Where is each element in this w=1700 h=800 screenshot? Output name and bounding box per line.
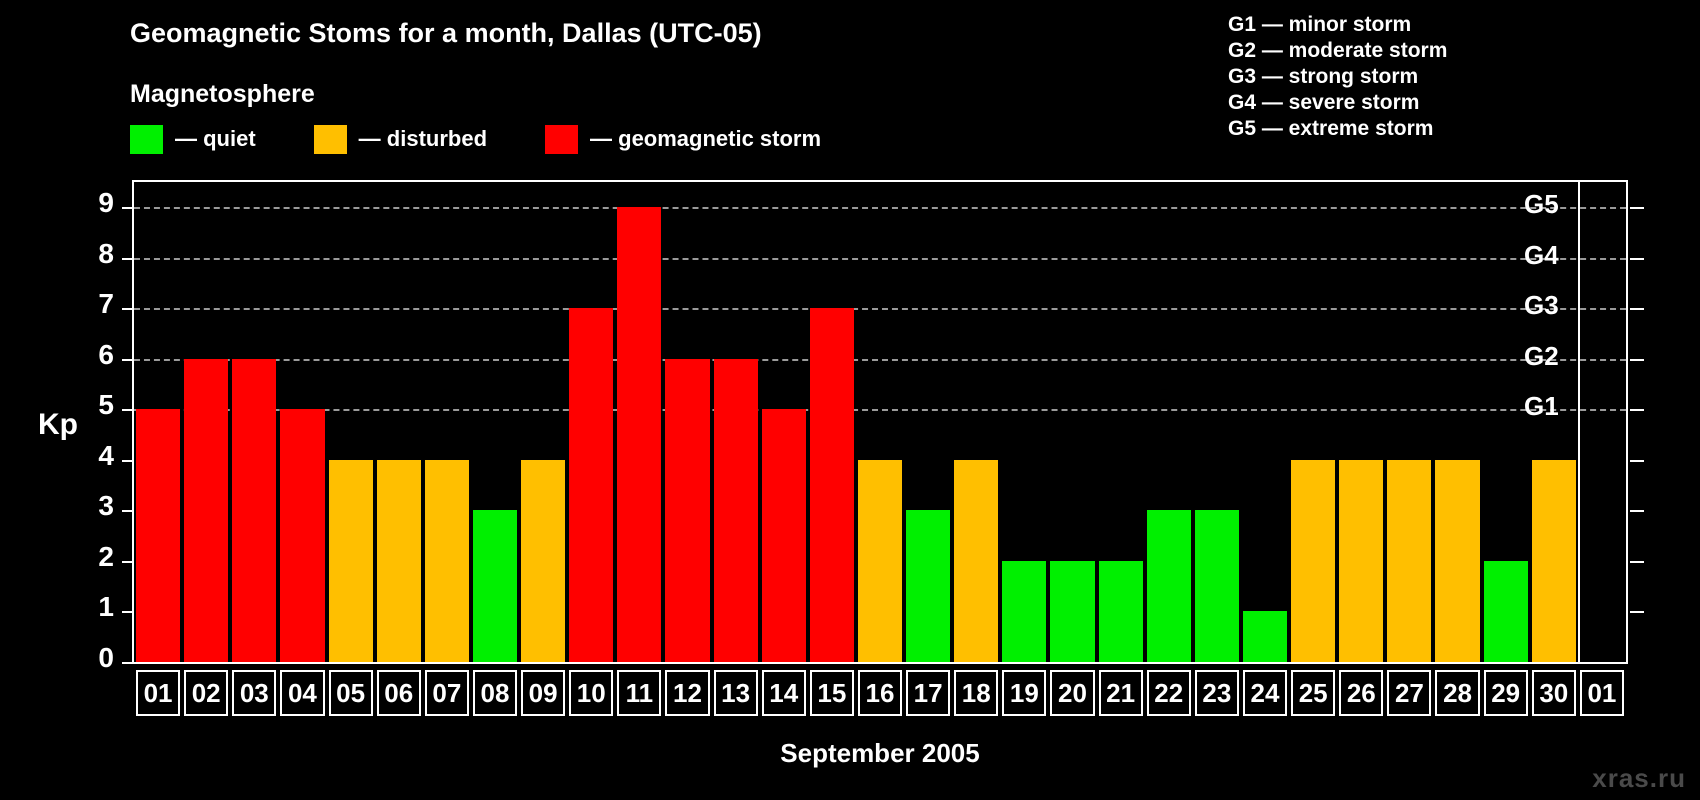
day-label-4[interactable]: 05: [329, 670, 373, 716]
bar-day-09[interactable]: [521, 460, 565, 662]
y-tick-4: [122, 460, 134, 462]
bar-day-11[interactable]: [617, 207, 661, 662]
day-label-3[interactable]: 04: [280, 670, 324, 716]
y-tick-label-0: 0: [74, 642, 114, 674]
g-minor-tick-1: [1630, 611, 1644, 613]
day-label-30[interactable]: 01: [1580, 670, 1624, 716]
y-tick-label-5: 5: [74, 389, 114, 421]
legend-label-quiet: — quiet: [175, 126, 256, 152]
day-label-11[interactable]: 12: [665, 670, 709, 716]
day-label-2[interactable]: 03: [232, 670, 276, 716]
day-label-9[interactable]: 10: [569, 670, 613, 716]
day-label-16[interactable]: 17: [906, 670, 950, 716]
plot-area: [132, 180, 1628, 664]
y-tick-0: [122, 662, 134, 664]
day-label-22[interactable]: 23: [1195, 670, 1239, 716]
y-tick-1: [122, 611, 134, 613]
y-tick-label-8: 8: [74, 238, 114, 270]
g-tick-G1: [1630, 409, 1644, 411]
day-label-12[interactable]: 13: [714, 670, 758, 716]
chart-title: Geomagnetic Stoms for a month, Dallas (U…: [130, 18, 762, 49]
day-label-6[interactable]: 07: [425, 670, 469, 716]
y-tick-2: [122, 561, 134, 563]
day-label-15[interactable]: 16: [858, 670, 902, 716]
chart-canvas: Geomagnetic Stoms for a month, Dallas (U…: [0, 0, 1700, 800]
bar-day-20[interactable]: [1050, 561, 1094, 662]
bar-day-23[interactable]: [1195, 510, 1239, 662]
bar-day-18[interactable]: [954, 460, 998, 662]
g-minor-tick-4: [1630, 460, 1644, 462]
y-tick-6: [122, 359, 134, 361]
y-tick-label-3: 3: [74, 490, 114, 522]
day-label-10[interactable]: 11: [617, 670, 661, 716]
g-axis-label-G1: G1: [1524, 391, 1559, 422]
x-axis-day-labels: 0102030405060708091011121314151617181920…: [132, 670, 1628, 716]
bar-day-04[interactable]: [280, 409, 324, 662]
day-label-25[interactable]: 26: [1339, 670, 1383, 716]
bar-day-24[interactable]: [1243, 611, 1287, 662]
bar-day-07[interactable]: [425, 460, 469, 662]
bar-day-29[interactable]: [1484, 561, 1528, 662]
g-tick-G4: [1630, 258, 1644, 260]
legend-swatch-quiet: [130, 125, 163, 154]
bar-day-21[interactable]: [1099, 561, 1143, 662]
legend-label-disturbed: — disturbed: [359, 126, 487, 152]
bar-day-06[interactable]: [377, 460, 421, 662]
y-tick-label-7: 7: [74, 288, 114, 320]
day-label-18[interactable]: 19: [1002, 670, 1046, 716]
day-label-24[interactable]: 25: [1291, 670, 1335, 716]
bar-day-01[interactable]: [136, 409, 180, 662]
legend-item-disturbed: — disturbed: [314, 125, 487, 154]
g-minor-tick-3: [1630, 510, 1644, 512]
bar-day-16[interactable]: [858, 460, 902, 662]
bar-day-05[interactable]: [329, 460, 373, 662]
legend-item-storm: — geomagnetic storm: [545, 125, 821, 154]
bar-day-13[interactable]: [714, 359, 758, 662]
g-axis-label-G3: G3: [1524, 290, 1559, 321]
legend-item-quiet: — quiet: [130, 125, 256, 154]
bar-day-27[interactable]: [1387, 460, 1431, 662]
day-label-7[interactable]: 08: [473, 670, 517, 716]
g-scale-row-g2: G2 — moderate storm: [1228, 38, 1447, 64]
x-axis-title: September 2005: [780, 738, 979, 768]
day-label-0[interactable]: 01: [136, 670, 180, 716]
day-label-17[interactable]: 18: [954, 670, 998, 716]
day-label-20[interactable]: 21: [1099, 670, 1143, 716]
y-tick-5: [122, 409, 134, 411]
plot-inner: [134, 182, 1626, 662]
bar-day-14[interactable]: [762, 409, 806, 662]
g-scale-row-g3: G3 — strong storm: [1228, 64, 1447, 90]
day-label-8[interactable]: 09: [521, 670, 565, 716]
bar-day-30[interactable]: [1532, 460, 1576, 662]
bar-day-28[interactable]: [1435, 460, 1479, 662]
y-tick-label-1: 1: [74, 591, 114, 623]
bar-day-10[interactable]: [569, 308, 613, 662]
day-label-5[interactable]: 06: [377, 670, 421, 716]
legend-label-storm: — geomagnetic storm: [590, 126, 821, 152]
y-tick-3: [122, 510, 134, 512]
bar-day-22[interactable]: [1147, 510, 1191, 662]
y-tick-label-2: 2: [74, 541, 114, 573]
y-axis-title: Kp: [38, 408, 78, 442]
g-axis-label-G2: G2: [1524, 341, 1559, 372]
g-scale-legend: G1 — minor storm G2 — moderate storm G3 …: [1228, 12, 1447, 142]
g-axis-label-G4: G4: [1524, 240, 1559, 271]
day-label-19[interactable]: 20: [1050, 670, 1094, 716]
day-label-1[interactable]: 02: [184, 670, 228, 716]
bar-day-25[interactable]: [1291, 460, 1335, 662]
y-tick-label-9: 9: [74, 187, 114, 219]
day-label-27[interactable]: 28: [1435, 670, 1479, 716]
y-tick-label-4: 4: [74, 440, 114, 472]
bar-day-03[interactable]: [232, 359, 276, 662]
bar-day-12[interactable]: [665, 359, 709, 662]
y-tick-9: [122, 207, 134, 209]
g-scale-row-g1: G1 — minor storm: [1228, 12, 1447, 38]
day-label-23[interactable]: 24: [1243, 670, 1287, 716]
bar-day-02[interactable]: [184, 359, 228, 662]
bar-day-15[interactable]: [810, 308, 854, 662]
bar-day-26[interactable]: [1339, 460, 1383, 662]
bar-day-08[interactable]: [473, 510, 517, 662]
g-minor-tick-2: [1630, 561, 1644, 563]
g-tick-G5: [1630, 207, 1644, 209]
g-tick-G3: [1630, 308, 1644, 310]
g-axis-label-G5: G5: [1524, 189, 1559, 220]
g-scale-row-g4: G4 — severe storm: [1228, 90, 1447, 116]
day-label-14[interactable]: 15: [810, 670, 854, 716]
day-label-21[interactable]: 22: [1147, 670, 1191, 716]
day-label-26[interactable]: 27: [1387, 670, 1431, 716]
day-label-28[interactable]: 29: [1484, 670, 1528, 716]
bar-day-19[interactable]: [1002, 561, 1046, 662]
magnetosphere-legend: — quiet — disturbed — geomagnetic storm: [130, 124, 821, 154]
legend-swatch-disturbed: [314, 125, 347, 154]
g-scale-row-g5: G5 — extreme storm: [1228, 116, 1447, 142]
y-tick-label-6: 6: [74, 339, 114, 371]
y-tick-8: [122, 258, 134, 260]
day-label-13[interactable]: 14: [762, 670, 806, 716]
legend-swatch-storm: [545, 125, 578, 154]
bar-series: [134, 182, 1626, 662]
watermark: xras.ru: [1592, 763, 1686, 794]
g-tick-G2: [1630, 359, 1644, 361]
legend-heading: Magnetosphere: [130, 80, 315, 109]
day-label-29[interactable]: 30: [1532, 670, 1576, 716]
y-tick-7: [122, 308, 134, 310]
x-axis-title-wrap: September 2005: [132, 738, 1628, 769]
bar-day-17[interactable]: [906, 510, 950, 662]
